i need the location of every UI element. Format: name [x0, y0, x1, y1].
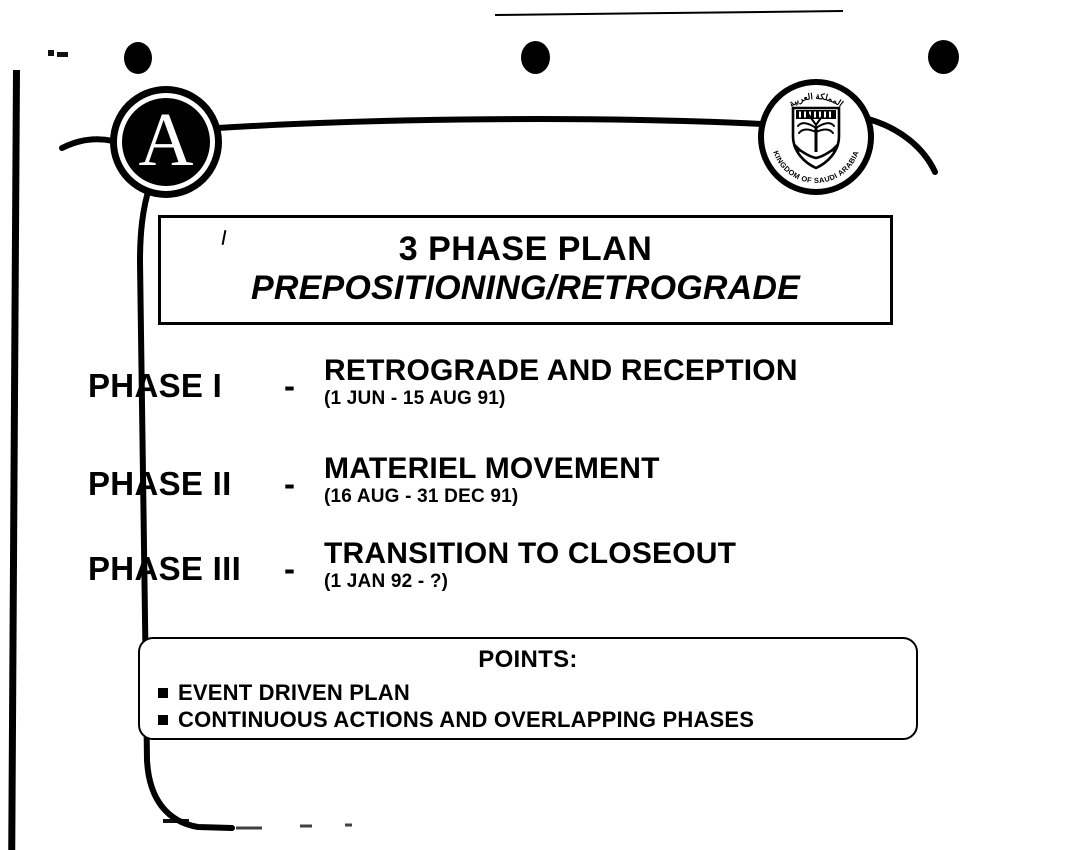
points-item-label: CONTINUOUS ACTIONS AND OVERLAPPING PHASE… [178, 706, 754, 733]
phase-label-3: PHASE III [88, 538, 284, 588]
points-list-item: CONTINUOUS ACTIONS AND OVERLAPPING PHASE… [158, 706, 916, 733]
phase-title-1: RETROGRADE AND RECEPTION [324, 355, 928, 386]
scan-smudge-bottom [163, 819, 189, 823]
circle-a-emblem: A [110, 86, 222, 198]
phase-dash-1: - [284, 355, 324, 405]
punch-hole-dot-1 [124, 42, 152, 74]
phase-row-1: PHASE I - RETROGRADE AND RECEPTION (1 JU… [88, 355, 928, 410]
phase-dates-2: (16 AUG - 31 DEC 91) [324, 487, 928, 508]
scan-rule-line [495, 10, 843, 16]
slide-title-line-1: 3 PHASE PLAN [399, 232, 653, 267]
phase-dash-3: - [284, 538, 324, 588]
scan-tick-artifact [222, 230, 227, 245]
phase-body-3: TRANSITION TO CLOSEOUT (1 JAN 92 - ?) [324, 538, 928, 593]
phase-label-2: PHASE II [88, 453, 284, 503]
points-item-label: EVENT DRIVEN PLAN [178, 679, 410, 706]
punch-hole-dot-2 [521, 41, 550, 74]
points-list: EVENT DRIVEN PLAN CONTINUOUS ACTIONS AND… [140, 679, 916, 734]
phase-row-2: PHASE II - MATERIEL MOVEMENT (16 AUG - 3… [88, 453, 928, 508]
square-bullet-icon [158, 715, 168, 725]
points-heading: POINTS: [140, 646, 916, 674]
phase-body-1: RETROGRADE AND RECEPTION (1 JUN - 15 AUG… [324, 355, 928, 410]
punch-hole-dot-3 [928, 40, 959, 74]
phase-title-2: MATERIEL MOVEMENT [324, 453, 928, 484]
phase-label-1: PHASE I [88, 355, 284, 405]
points-box: POINTS: EVENT DRIVEN PLAN CONTINUOUS ACT… [138, 637, 918, 740]
kingdom-of-saudi-arabia-seal: المملكة العربية KINGDOM OF SAUDI ARABIA [757, 78, 875, 196]
square-bullet-icon [158, 688, 168, 698]
phase-body-2: MATERIEL MOVEMENT (16 AUG - 31 DEC 91) [324, 453, 928, 508]
points-list-item: EVENT DRIVEN PLAN [158, 679, 916, 706]
left-margin-bar [8, 70, 20, 850]
phase-dates-3: (1 JAN 92 - ?) [324, 572, 928, 593]
scan-smudge-b [57, 52, 68, 57]
phase-dates-1: (1 JUN - 15 AUG 91) [324, 389, 928, 410]
slide-title-line-2: PREPOSITIONING/RETROGRADE [251, 270, 800, 307]
phase-dash-2: - [284, 453, 324, 503]
phase-row-3: PHASE III - TRANSITION TO CLOSEOUT (1 JA… [88, 538, 928, 593]
emblem-letter-a: A [110, 86, 222, 198]
phase-title-3: TRANSITION TO CLOSEOUT [324, 538, 928, 569]
slide-title-box: 3 PHASE PLAN PREPOSITIONING/RETROGRADE [158, 215, 893, 325]
svg-text:المملكة العربية: المملكة العربية [787, 91, 845, 109]
scan-smudge-a [48, 50, 54, 56]
slide-canvas: A المملكة العربية KINGDOM OF SAUDI ARABI… [0, 0, 1088, 850]
